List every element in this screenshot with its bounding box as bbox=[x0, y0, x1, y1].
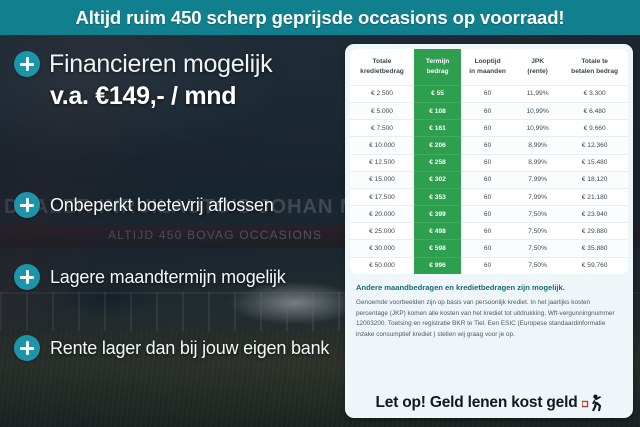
column-header-term-amount: Termijn bedrag bbox=[414, 49, 461, 85]
table-cell: € 30.000 bbox=[350, 240, 414, 257]
column-header-jpk: JPK (rente) bbox=[514, 49, 561, 85]
feature-item-2: Lagere maandtermijn mogelijk bbox=[14, 264, 344, 290]
table-cell: € 353 bbox=[414, 188, 461, 205]
feature-item-3: Rente lager dan bij jouw eigen bank bbox=[14, 335, 344, 361]
table-cell: 60 bbox=[461, 257, 514, 274]
table-cell: € 15.480 bbox=[561, 154, 628, 171]
table-cell: 7,50% bbox=[514, 240, 561, 257]
table-header-row: Totale kredietbedrag Termijn bedrag Loop… bbox=[350, 49, 628, 85]
column-header-total-payable: Totale te betalen bedrag bbox=[561, 49, 628, 85]
table-cell: 60 bbox=[461, 206, 514, 223]
table-cell: 7,50% bbox=[514, 206, 561, 223]
table-cell: € 55 bbox=[414, 85, 461, 102]
table-cell: 8,99% bbox=[514, 154, 561, 171]
table-cell: € 35.880 bbox=[561, 240, 628, 257]
table-cell: € 25.000 bbox=[350, 223, 414, 240]
table-row: € 7.500€ 1616010,99%€ 9.660 bbox=[350, 120, 628, 137]
table-cell: 60 bbox=[461, 240, 514, 257]
table-cell: € 21.180 bbox=[561, 188, 628, 205]
table-cell: € 206 bbox=[414, 137, 461, 154]
table-cell: € 15.000 bbox=[350, 171, 414, 188]
table-cell: € 12.360 bbox=[561, 137, 628, 154]
table-cell: 7,99% bbox=[514, 171, 561, 188]
table-row: € 50.000€ 996607,50%€ 59.760 bbox=[350, 257, 628, 274]
disclaimer-block: Andere maandbedragen en kredietbedragen … bbox=[345, 274, 633, 340]
plus-icon bbox=[14, 192, 40, 218]
table-row: € 25.000€ 498607,50%€ 29.880 bbox=[350, 223, 628, 240]
table-cell: 7,50% bbox=[514, 223, 561, 240]
table-cell: € 50.000 bbox=[350, 257, 414, 274]
table-cell: 10,99% bbox=[514, 120, 561, 137]
table-row: € 5.000€ 1086010,99%€ 6.480 bbox=[350, 102, 628, 119]
rates-card: Totale kredietbedrag Termijn bedrag Loop… bbox=[345, 44, 633, 418]
table-cell: € 59.760 bbox=[561, 257, 628, 274]
table-cell: € 5.000 bbox=[350, 102, 414, 119]
table-row: € 20.000€ 399607,50%€ 23.940 bbox=[350, 206, 628, 223]
table-cell: € 12.500 bbox=[350, 154, 414, 171]
feature-item-1-label: Onbeperkt boetevrij aflossen bbox=[50, 195, 274, 216]
feature-item-2-label: Lagere maandtermijn mogelijk bbox=[50, 267, 286, 288]
table-row: € 30.000€ 598607,50%€ 35.880 bbox=[350, 240, 628, 257]
feature-item-1: Onbeperkt boetevrij aflossen bbox=[14, 192, 344, 218]
table-cell: € 258 bbox=[414, 154, 461, 171]
column-header-duration: Looptijd in maanden bbox=[461, 49, 514, 85]
rates-table-body: € 2.500€ 556011,99%€ 3.300€ 5.000€ 10860… bbox=[350, 85, 628, 274]
advertisement-banner: DEALER INRUILAUTO'S JOHAN MEURE ALTIJD 4… bbox=[0, 0, 640, 427]
table-row: € 15.000€ 302607,99%€ 18.120 bbox=[350, 171, 628, 188]
headline-sub-text: v.a. €149,- / mnd bbox=[50, 83, 340, 110]
table-row: € 2.500€ 556011,99%€ 3.300 bbox=[350, 85, 628, 102]
column-header-total-credit: Totale kredietbedrag bbox=[350, 49, 414, 85]
table-row: € 17.500€ 353607,99%€ 21.180 bbox=[350, 188, 628, 205]
table-row: € 12.500€ 258608,99%€ 15.480 bbox=[350, 154, 628, 171]
feature-item-3-label: Rente lager dan bij jouw eigen bank bbox=[50, 338, 329, 359]
disclaimer-title: Andere maandbedragen en kredietbedragen … bbox=[356, 283, 622, 294]
table-cell: € 2.500 bbox=[350, 85, 414, 102]
table-cell: 60 bbox=[461, 102, 514, 119]
table-cell: € 108 bbox=[414, 102, 461, 119]
table-cell: € 18.120 bbox=[561, 171, 628, 188]
feature-list: Financieren mogelijk v.a. €149,- / mnd O… bbox=[0, 35, 344, 427]
table-cell: € 3.300 bbox=[561, 85, 628, 102]
table-cell: € 996 bbox=[414, 257, 461, 274]
table-cell: € 7.500 bbox=[350, 120, 414, 137]
table-cell: 60 bbox=[461, 120, 514, 137]
table-cell: 7,50% bbox=[514, 257, 561, 274]
table-cell: 60 bbox=[461, 85, 514, 102]
table-cell: € 10.000 bbox=[350, 137, 414, 154]
table-cell: 60 bbox=[461, 223, 514, 240]
plus-icon bbox=[14, 51, 40, 77]
plus-icon bbox=[14, 264, 40, 290]
table-cell: € 6.480 bbox=[561, 102, 628, 119]
table-cell: € 29.880 bbox=[561, 223, 628, 240]
table-cell: € 598 bbox=[414, 240, 461, 257]
table-cell: € 498 bbox=[414, 223, 461, 240]
plus-icon bbox=[14, 335, 40, 361]
table-cell: 60 bbox=[461, 171, 514, 188]
headline-row: Financieren mogelijk bbox=[14, 51, 340, 78]
table-cell: 11,99% bbox=[514, 85, 561, 102]
disclaimer-body: Genoemde voorbeelden zijn op basis van p… bbox=[356, 298, 622, 340]
top-banner: Altijd ruim 450 scherp geprijsde occasio… bbox=[0, 0, 640, 35]
table-cell: € 23.940 bbox=[561, 206, 628, 223]
table-cell: € 302 bbox=[414, 171, 461, 188]
table-cell: 60 bbox=[461, 188, 514, 205]
running-man-money-icon bbox=[582, 394, 602, 412]
table-cell: € 20.000 bbox=[350, 206, 414, 223]
headline-block: Financieren mogelijk v.a. €149,- / mnd bbox=[14, 51, 340, 109]
legal-warning: Let op! Geld lenen kost geld bbox=[345, 394, 633, 412]
table-cell: 60 bbox=[461, 154, 514, 171]
rates-table-head: Totale kredietbedrag Termijn bedrag Loop… bbox=[350, 49, 628, 85]
top-banner-text: Altijd ruim 450 scherp geprijsde occasio… bbox=[75, 7, 564, 29]
table-cell: € 17.500 bbox=[350, 188, 414, 205]
legal-warning-text: Let op! Geld lenen kost geld bbox=[376, 394, 578, 412]
rates-table: Totale kredietbedrag Termijn bedrag Loop… bbox=[350, 49, 628, 274]
table-cell: 7,99% bbox=[514, 188, 561, 205]
table-cell: 60 bbox=[461, 137, 514, 154]
headline-main-text: Financieren mogelijk bbox=[49, 51, 272, 78]
table-row: € 10.000€ 206608,99%€ 12.360 bbox=[350, 137, 628, 154]
table-cell: 10,99% bbox=[514, 102, 561, 119]
table-cell: € 9.660 bbox=[561, 120, 628, 137]
rates-table-container: Totale kredietbedrag Termijn bedrag Loop… bbox=[350, 49, 628, 274]
table-cell: € 161 bbox=[414, 120, 461, 137]
table-cell: 8,99% bbox=[514, 137, 561, 154]
table-cell: € 399 bbox=[414, 206, 461, 223]
